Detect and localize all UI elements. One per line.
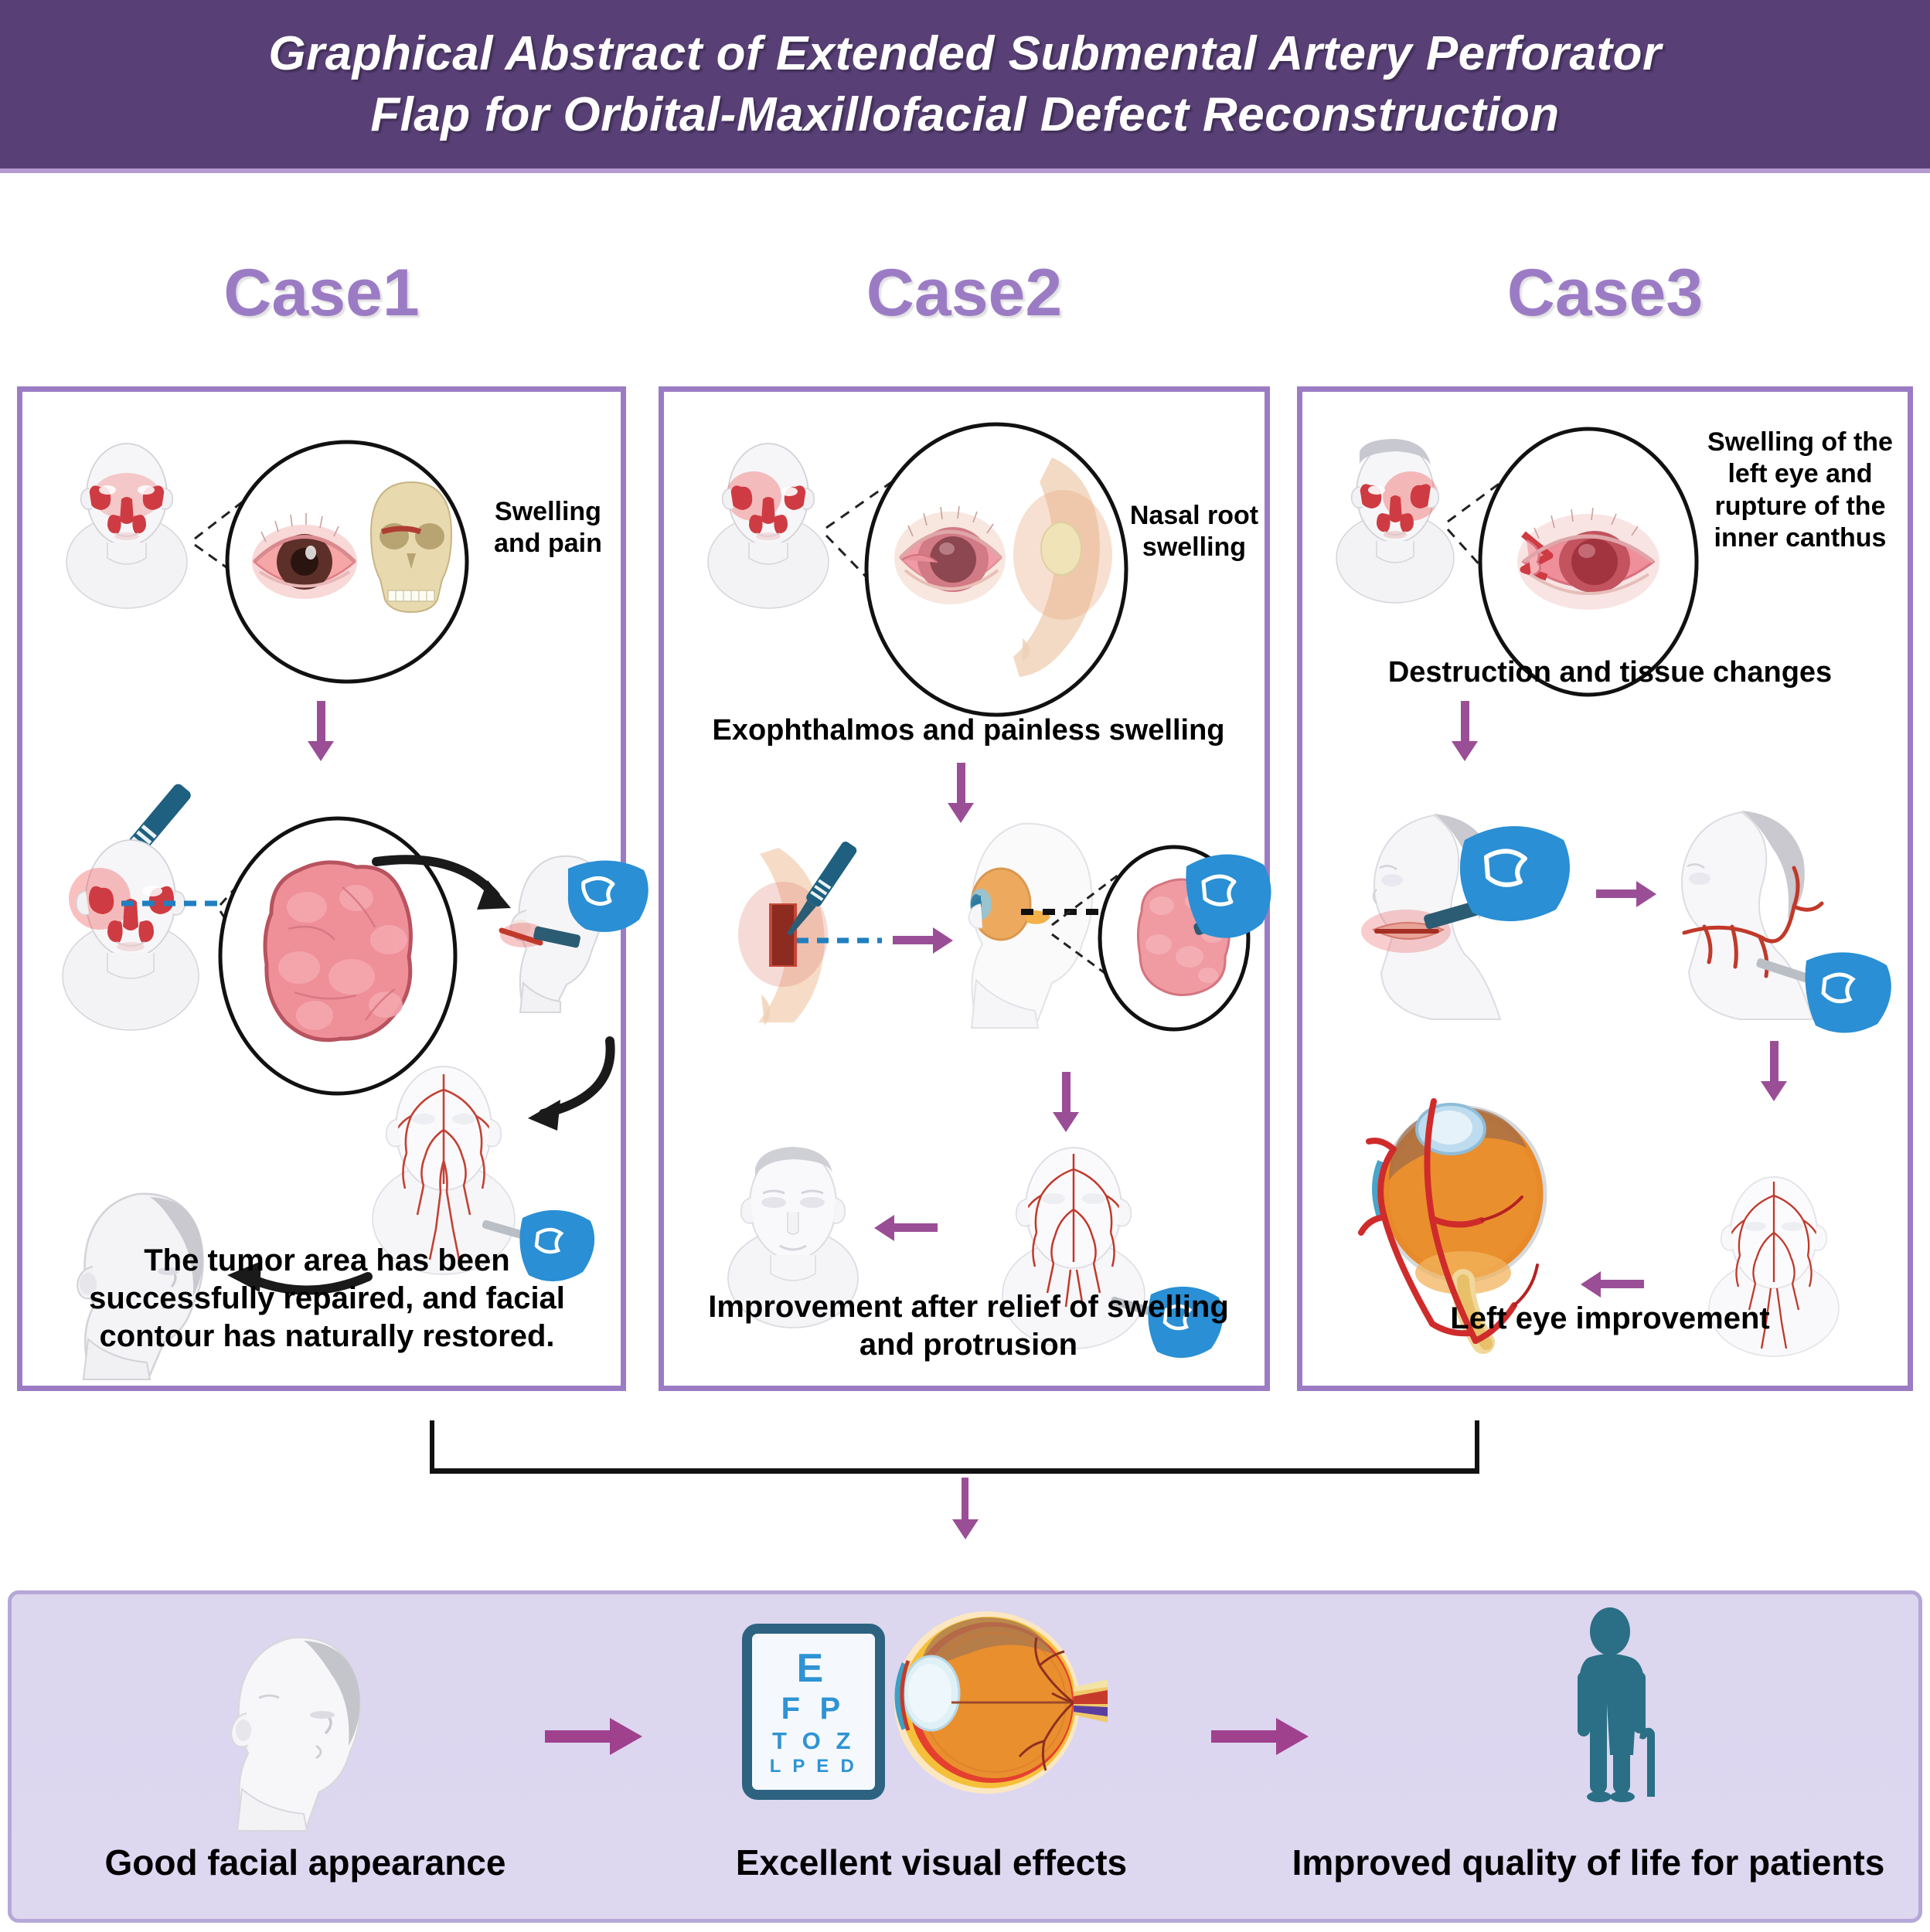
title-line-1: Graphical Abstract of Extended Submental… <box>268 23 1661 84</box>
case-1-heading: Case1 <box>17 255 626 332</box>
case-1-arrow-down-1 <box>305 701 336 763</box>
head-front-surgical-icon <box>46 825 216 1033</box>
eye-chart-row-2: F P <box>781 1693 846 1724</box>
banner-underline <box>0 168 1930 173</box>
summary-caption-2: Excellent visual effects <box>707 1842 1156 1883</box>
case-2-heading: Case2 <box>659 255 1270 332</box>
case-2-arrow-down-2 <box>1050 1072 1081 1134</box>
case-2-panel: Nasal root swelling Exophthalmos and pai… <box>659 386 1270 1391</box>
summary-panel: Good facial appearance E F P T O Z L P E… <box>8 1590 1922 1923</box>
case-3-mid-label: Destruction and tissue changes <box>1316 655 1904 690</box>
magnifier-circle-eye-nose-icon <box>857 419 1135 720</box>
case-2-side-label: Nasal root swelling <box>1120 500 1268 564</box>
elderly-person-with-cane-icon <box>1550 1608 1689 1840</box>
neck-vessel-dissection-icon <box>1658 794 1913 1033</box>
case-3-arrow-down-1 <box>1449 701 1480 763</box>
case-3-caption: Left eye improvement <box>1316 1300 1904 1338</box>
eye-chart-icon: E F P T O Z L P E D <box>742 1624 885 1800</box>
case-3-arrow-right-1 <box>1596 879 1664 910</box>
summary-caption-1: Good facial appearance <box>89 1842 522 1883</box>
nose-incision-scalpel-icon <box>717 840 894 1033</box>
case-1-caption: The tumor area has been successfully rep… <box>53 1242 601 1355</box>
submental-flap-harvest-icon <box>1349 794 1604 1026</box>
summary-caption-3: Improved quality of life for patients <box>1279 1842 1898 1883</box>
case-1-side-label: Swelling and pain <box>478 496 618 560</box>
case-3-side-label: Swelling of the left eye and rupture of … <box>1704 427 1896 555</box>
title-banner: Graphical Abstract of Extended Submental… <box>0 0 1930 168</box>
case-2-mid-label: Exophthalmos and painless swelling <box>678 713 1259 748</box>
title-line-2: Flap for Orbital-Maxillofacial Defect Re… <box>370 84 1559 145</box>
eyeball-anatomy-icon <box>885 1607 1109 1808</box>
summary-arrow-down <box>949 1478 980 1544</box>
gloved-hand-incision-icon <box>492 836 655 1014</box>
summary-arrow-right-1 <box>545 1718 645 1755</box>
gloved-hand-icon <box>1183 831 1276 970</box>
cases-to-summary-bracket <box>430 1420 1481 1475</box>
case-3-heading: Case3 <box>1297 255 1913 332</box>
eye-chart-row-3: T O Z <box>772 1729 855 1753</box>
case-2-caption: Improvement after relief of swelling and… <box>678 1288 1259 1364</box>
summary-arrow-right-2 <box>1211 1718 1312 1755</box>
case-3-arrow-down-2 <box>1758 1041 1789 1103</box>
eye-chart-row-4: L P E D <box>770 1757 857 1776</box>
case-2-arrow-left-1 <box>871 1213 941 1243</box>
case-1-panel: Swelling and pain <box>17 386 626 1391</box>
eye-chart-row-1: E <box>796 1648 830 1689</box>
case-3-arrow-left-1 <box>1578 1269 1647 1300</box>
head-profile-icon <box>213 1627 390 1835</box>
head-front-sinus-icon <box>53 434 200 612</box>
case-3-panel: Swelling of the left eye and rupture of … <box>1297 386 1913 1391</box>
magnifier-circle-eye-skull-icon <box>220 434 475 689</box>
